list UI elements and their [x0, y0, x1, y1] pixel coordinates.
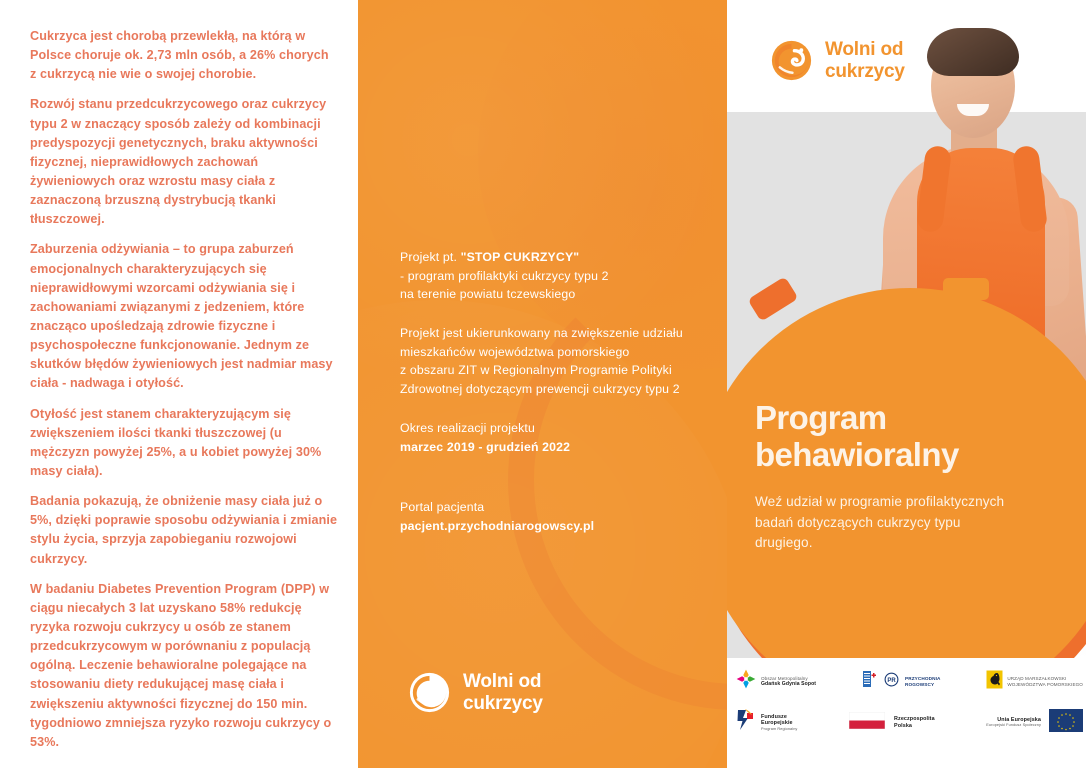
- urzad-line-2: WOJEWÓDZTWA POMORSKIEGO: [1007, 682, 1083, 687]
- project-title-line: Projekt pt. "STOP CUKRZYCY": [400, 248, 727, 267]
- logo-unia-europejska: Unia Europejska Europejski Fundusz Społe…: [986, 709, 1083, 737]
- ue-line-2: Europejski Fundusz Społeczny: [986, 723, 1041, 727]
- circle-swirl-logo-icon: [405, 668, 454, 717]
- svg-text:PR: PR: [887, 677, 896, 683]
- cover-headline-block: Program behawioralny Weź udział w progra…: [755, 400, 1005, 554]
- brand-logo-orange[interactable]: Wolni od cukrzycy: [767, 36, 905, 85]
- portal-url[interactable]: pacjent.przychodniarogowscy.pl: [400, 517, 727, 536]
- project-subtitle-2: na terenie powiatu tczewskiego: [400, 285, 727, 304]
- przychodnia-line-1: PRZYCHODNIA: [905, 676, 940, 682]
- project-description-block: Projekt jest ukierunkowany na zwiększeni…: [400, 324, 727, 399]
- logo-text-fundusze: Fundusze Europejskie Program Regionalny: [761, 714, 797, 731]
- logo-text-urzad: URZĄD MARSZAŁKOWSKI WOJEWÓDZTWA POMORSKI…: [1007, 676, 1083, 687]
- paragraph-eating-disorders: Zaburzenia odżywiania – to grupa zaburze…: [30, 240, 338, 393]
- description-line-4: Zdrowotnej dotyczącym prewencji cukrzycy…: [400, 380, 727, 399]
- brand-logo-white[interactable]: Wolni od cukrzycy: [405, 668, 543, 717]
- project-info-block: Projekt pt. "STOP CUKRZYCY" - program pr…: [400, 248, 727, 556]
- period-value: marzec 2019 - grudzień 2022: [400, 438, 727, 457]
- przychodnia-line-2: ROGOWSCY: [905, 682, 940, 688]
- brand-name-line1: Wolni od: [463, 671, 541, 692]
- rp-line-2: Polska: [894, 723, 935, 729]
- logo-text-rzeczpospolita: Rzeczpospolita Polska: [894, 716, 935, 729]
- brand-name-line2: cukrzycy: [825, 61, 905, 82]
- left-text-panel: Cukrzyca jest chorobą przewlekłą, na któ…: [0, 0, 358, 768]
- headline-line-2: behawioralny: [755, 437, 1005, 474]
- logo-fundusze-europejskie: Fundusze Europejskie Program Regionalny: [735, 708, 797, 737]
- middle-orange-panel: Projekt pt. "STOP CUKRZYCY" - program pr…: [358, 0, 727, 768]
- clinic-building-icon: [862, 669, 877, 694]
- description-line-2: mieszkańców województwa pomorskiego: [400, 343, 727, 362]
- pomorskie-griffin-icon: [986, 670, 1003, 694]
- headline-line-1: Program: [755, 400, 1005, 437]
- eu-flag-icon: [1049, 709, 1083, 737]
- fundusze-line-3: Program Regionalny: [761, 727, 797, 731]
- logo-rzeczpospolita-polska: Rzeczpospolita Polska: [849, 712, 935, 734]
- partner-logo-bar: Obszar Metropolitalny Gdańsk Gdynia Sopo…: [727, 660, 1086, 768]
- partner-logo-row-2: Fundusze Europejskie Program Regionalny: [735, 708, 1083, 737]
- paragraph-obesity: Otyłość jest stanem charakteryzującym si…: [30, 405, 338, 482]
- paragraph-risk-factors: Rozwój stanu przedcukrzycowego oraz cukr…: [30, 95, 338, 229]
- paragraph-weight-loss: Badania pokazują, że obniżenie masy ciał…: [30, 492, 338, 569]
- logo-text-obszar: Obszar Metropolitalny Gdańsk Gdynia Sopo…: [761, 676, 816, 687]
- brand-wordmark-white: Wolni od cukrzycy: [463, 671, 543, 714]
- project-prefix-label: Projekt pt.: [400, 250, 457, 264]
- logo-przychodnia-rogowscy: PR PRZYCHODNIA ROGOWSCY: [862, 669, 940, 694]
- brand-name-line1: Wolni od: [825, 39, 903, 60]
- logo-urzad-marszalkowski: URZĄD MARSZAŁKOWSKI WOJEWÓDZTWA POMORSKI…: [986, 670, 1083, 694]
- portal-label: Portal pacjenta: [400, 498, 727, 517]
- brand-wordmark-orange: Wolni od cukrzycy: [825, 39, 905, 82]
- brochure-page: Cukrzyca jest chorobą przewlekłą, na któ…: [0, 0, 1086, 768]
- pr-monogram-icon: PR: [884, 672, 899, 692]
- brand-name-line2: cukrzycy: [463, 693, 543, 714]
- paragraph-dpp-study: W badaniu Diabetes Prevention Program (D…: [30, 580, 338, 752]
- partner-logo-row-1: Obszar Metropolitalny Gdańsk Gdynia Sopo…: [735, 668, 1083, 695]
- right-cover-panel: Wolni od cukrzycy Program behawioralny W…: [727, 0, 1086, 768]
- rp-line-1: Rzeczpospolita: [894, 716, 935, 722]
- paragraph-intro: Cukrzyca jest chorobą przewlekłą, na któ…: [30, 27, 338, 84]
- polish-flag-icon: [849, 712, 885, 734]
- obszar-line-2: Gdańsk Gdynia Sopot: [761, 681, 816, 687]
- logo-text-unia: Unia Europejska Europejski Fundusz Społe…: [986, 717, 1041, 728]
- description-line-1: Projekt jest ukierunkowany na zwiększeni…: [400, 324, 727, 343]
- project-subtitle-1: - program profilaktyki cukrzycy typu 2: [400, 267, 727, 286]
- left-body-copy: Cukrzyca jest chorobą przewlekłą, na któ…: [30, 27, 338, 752]
- project-title-block: Projekt pt. "STOP CUKRZYCY" - program pr…: [400, 248, 727, 304]
- project-title: "STOP CUKRZYCY": [461, 250, 580, 264]
- description-line-3: z obszaru ZIT w Regionalnym Programie Po…: [400, 361, 727, 380]
- cover-subheadline: Weź udział w programie profilaktycznych …: [755, 492, 1005, 554]
- patient-portal-block: Portal pacjenta pacjent.przychodniarogow…: [400, 498, 727, 535]
- photo-hair: [927, 28, 1019, 76]
- fundusze-line-2: Europejskie: [761, 720, 797, 726]
- period-label: Okres realizacji projektu: [400, 419, 727, 438]
- decorative-disc-notch-b: [943, 278, 989, 300]
- obszar-metropolitalny-star-icon: [735, 668, 757, 695]
- project-period-block: Okres realizacji projektu marzec 2019 - …: [400, 419, 727, 456]
- fundusze-europejskie-icon: [735, 708, 757, 737]
- logo-text-przychodnia: PRZYCHODNIA ROGOWSCY: [905, 676, 940, 687]
- logo-obszar-metropolitalny: Obszar Metropolitalny Gdańsk Gdynia Sopo…: [735, 668, 816, 695]
- circle-swirl-logo-icon: [767, 36, 816, 85]
